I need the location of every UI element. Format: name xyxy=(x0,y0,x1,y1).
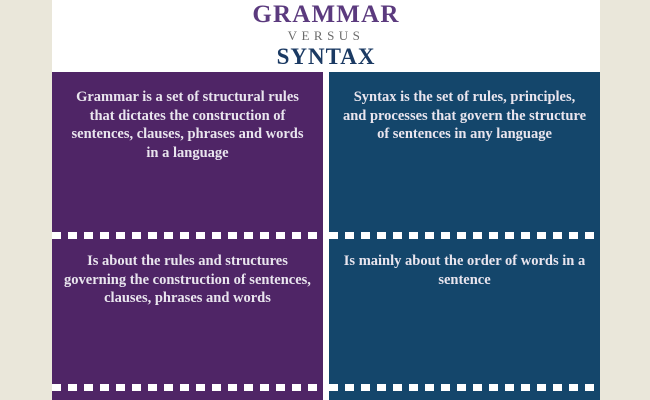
syntax-column: Syntax is the set of rules, principles, … xyxy=(329,72,600,400)
syntax-divider-2 xyxy=(329,384,600,391)
grammar-divider-1 xyxy=(52,232,323,239)
grammar-text-1: Grammar is a set of structural rules tha… xyxy=(64,88,311,162)
syntax-text-1: Syntax is the set of rules, principles, … xyxy=(341,88,588,144)
infographic-header: GRAMMAR VERSUS SYNTAX xyxy=(52,0,600,72)
mat-border-left xyxy=(0,0,52,400)
syntax-text-2: Is mainly about the order of words in a … xyxy=(341,252,588,289)
infographic-root: GRAMMAR VERSUS SYNTAX Grammar is a set o… xyxy=(0,0,650,400)
grammar-divider-2 xyxy=(52,384,323,391)
grammar-text-2: Is about the rules and structures govern… xyxy=(64,252,311,308)
grammar-cell-1: Grammar is a set of structural rules tha… xyxy=(52,72,323,232)
comparison-columns: Grammar is a set of structural rules tha… xyxy=(52,72,600,400)
page-subtitle: SYNTAX xyxy=(52,44,600,69)
mat-border-right xyxy=(600,0,650,400)
syntax-divider-1 xyxy=(329,232,600,239)
grammar-cell-2: Is about the rules and structures govern… xyxy=(52,232,323,384)
grammar-column: Grammar is a set of structural rules tha… xyxy=(52,72,323,400)
syntax-cell-2: Is mainly about the order of words in a … xyxy=(329,232,600,384)
infographic-card: GRAMMAR VERSUS SYNTAX Grammar is a set o… xyxy=(52,0,600,400)
versus-label: VERSUS xyxy=(52,28,600,44)
syntax-cell-1: Syntax is the set of rules, principles, … xyxy=(329,72,600,232)
page-title: GRAMMAR xyxy=(52,0,600,28)
